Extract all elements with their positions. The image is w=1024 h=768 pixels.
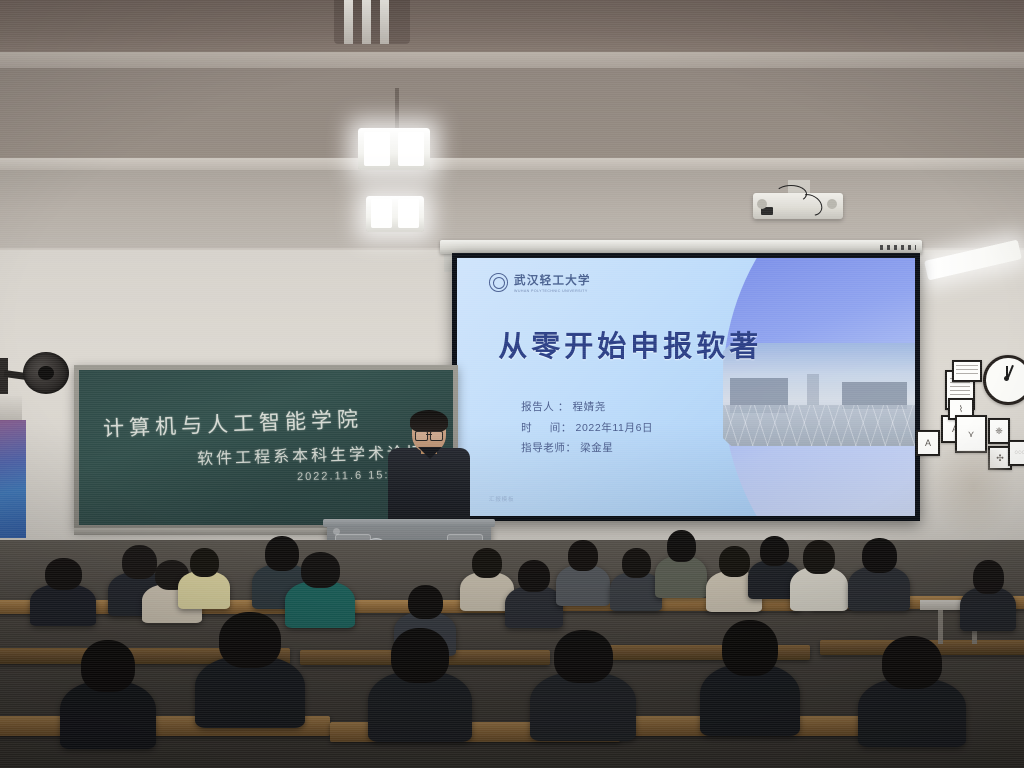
audience-person (30, 558, 96, 614)
audience-person (285, 552, 355, 614)
audience-person (530, 630, 636, 722)
audience-person-head (803, 540, 835, 574)
audience-person-head (472, 548, 502, 578)
audience-person-head (760, 536, 789, 566)
audience (0, 0, 1024, 768)
audience-person (700, 620, 800, 716)
audience-person-head (408, 585, 443, 619)
audience-person-head (554, 630, 613, 683)
audience-person (858, 636, 966, 728)
audience-person-head (81, 640, 135, 692)
audience-person-head (391, 628, 449, 683)
audience-person-torso (655, 556, 707, 598)
audience-person-head (45, 558, 82, 590)
audience-person-head (973, 560, 1004, 594)
audience-person-head (518, 560, 550, 592)
audience-person (178, 548, 230, 598)
audience-person-head (301, 552, 340, 588)
audience-person-torso (30, 584, 96, 626)
audience-person-head (722, 620, 778, 676)
audience-person-head (667, 530, 696, 562)
audience-person-head (219, 612, 281, 668)
audience-person (848, 538, 910, 598)
audience-person (60, 640, 156, 730)
audience-person (960, 560, 1016, 618)
audience-person-head (568, 540, 598, 571)
audience-person (505, 560, 563, 616)
audience-person-head (622, 548, 651, 578)
audience-person (655, 530, 707, 586)
audience-person-head (190, 548, 219, 577)
audience-person (195, 612, 305, 708)
audience-person-head (862, 538, 897, 573)
audience-person-head (719, 546, 750, 577)
audience-person-torso (505, 586, 563, 628)
audience-person (368, 628, 472, 722)
audience-person (790, 540, 848, 598)
audience-person (556, 540, 610, 594)
classroom-photo: 武汉轻工大学 WUHAN POLYTECHNIC UNIVERSITY 从零开始… (0, 0, 1024, 768)
audience-person-head (882, 636, 942, 689)
audience-person-torso (556, 565, 610, 606)
